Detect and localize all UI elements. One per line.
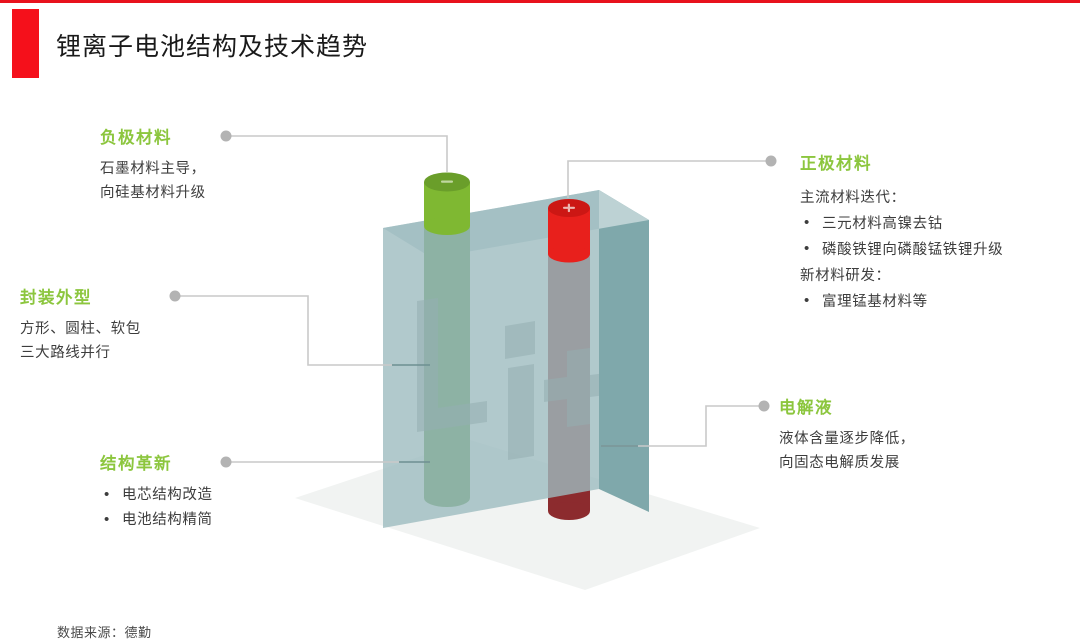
annotation-electrolyte-heading: 电解液 [779, 394, 915, 418]
connector-cathode [568, 161, 770, 198]
ground-plane [295, 440, 760, 590]
connector-stubs [392, 365, 638, 462]
annotation-anode-line-2: 向硅基材料升级 [100, 181, 206, 205]
annotation-structure: 结构革新 电芯结构改造 电池结构精简 [100, 450, 213, 533]
anode-cylinder-cap [424, 173, 470, 236]
connector-dots [170, 131, 777, 468]
list-item: 磷酸铁锂向磷酸锰铁锂升级 [800, 237, 1003, 263]
annotation-package-line-2: 三大路线并行 [20, 341, 141, 365]
title-accent-bar [12, 9, 39, 78]
annotation-electrolyte-line-1: 液体含量逐步降低， [779, 427, 915, 451]
annotation-electrolyte-line-2: 向固态电解质发展 [779, 451, 915, 475]
top-accent-rule [0, 0, 1080, 3]
annotation-anode-heading: 负极材料 [100, 124, 206, 148]
box-front-face [383, 190, 599, 528]
annotation-package: 封装外型 方形、圆柱、软包 三大路线并行 [20, 284, 141, 365]
annotation-anode: 负极材料 石墨材料主导， 向硅基材料升级 [100, 124, 206, 205]
list-item: 富理锰基材料等 [800, 289, 1003, 315]
annotation-cathode: 正极材料 主流材料迭代： 三元材料高镍去钴 磷酸铁锂向磷酸锰铁锂升级 新材料研发… [800, 150, 1003, 315]
list-item: 电池结构精简 [100, 508, 213, 533]
annotation-cathode-bullets-2: 富理锰基材料等 [800, 289, 1003, 315]
li-plus-watermark [417, 298, 614, 460]
annotation-cathode-bullets-1: 三元材料高镍去钴 磷酸铁锂向磷酸锰铁锂升级 [800, 211, 1003, 263]
annotation-cathode-intro-2: 新材料研发： [800, 263, 1003, 289]
annotation-structure-bullets: 电芯结构改造 电池结构精简 [100, 483, 213, 533]
cathode-cylinder-cap [548, 199, 590, 263]
connector-lines [176, 136, 770, 462]
annotation-cathode-intro-1: 主流材料迭代： [800, 185, 1003, 211]
battery-illustration [0, 0, 1080, 644]
connector-dot-package [170, 291, 181, 302]
connector-dot-anode [221, 131, 232, 142]
source-note: 数据来源：德勤 [57, 622, 152, 641]
box-side-face [599, 190, 649, 512]
list-item: 三元材料高镍去钴 [800, 211, 1003, 237]
annotation-structure-heading: 结构革新 [100, 450, 213, 474]
connector-package [176, 296, 392, 365]
annotation-package-heading: 封装外型 [20, 284, 141, 308]
anode-cylinder-body [424, 190, 470, 507]
connector-dot-cathode [766, 156, 777, 167]
page-title: 锂离子电池结构及技术趋势 [56, 27, 368, 63]
annotation-electrolyte: 电解液 液体含量逐步降低， 向固态电解质发展 [779, 394, 915, 475]
connector-electrolyte [601, 406, 763, 446]
box-top-face [383, 190, 649, 258]
list-item: 电芯结构改造 [100, 483, 213, 508]
cathode-cylinder-body [548, 215, 590, 520]
annotation-anode-line-1: 石墨材料主导， [100, 157, 206, 181]
connector-dot-structure [221, 457, 232, 468]
connector-anode [227, 136, 447, 172]
annotation-cathode-heading: 正极材料 [800, 150, 1003, 174]
annotation-package-line-1: 方形、圆柱、软包 [20, 317, 141, 341]
connector-dot-electrolyte [759, 401, 770, 412]
